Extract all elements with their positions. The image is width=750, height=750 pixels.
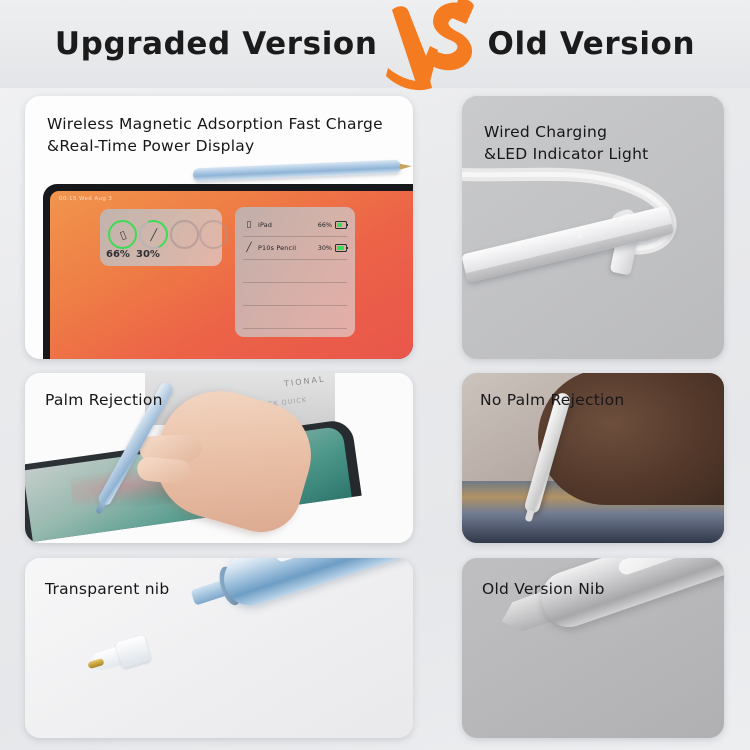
comparison-grid: Wireless Magnetic Adsorption Fast Charge… (0, 88, 750, 750)
battery-list-row-ipad: ▯ iPad 66% (243, 214, 347, 237)
battery-list-row-empty-2 (243, 283, 347, 306)
battery-ring-widget: ▯ ╱ 66% 30% (100, 209, 222, 266)
panel-wired-charging: Wired Charging &LED Indicator Light (462, 96, 724, 359)
battery-list-name-pencil: P10s Pencil (258, 244, 318, 252)
battery-ring-pencil: ╱ (135, 216, 173, 254)
panel-caption-no-palm-rejection: No Palm Rejection (480, 389, 624, 411)
panel-palm-rejection: TIONAL QUICK QUICK Palm Rejection (25, 373, 413, 543)
stylus-illustration (193, 160, 401, 182)
led-indicator (578, 234, 582, 238)
old-version-title: Old Version (488, 26, 696, 62)
tablet-status-bar: 00:15 Wed Aug 3 (59, 196, 112, 202)
header-banner: Upgraded Version Old Version (0, 0, 750, 88)
panel-old-version-nib: Old Version Nib (462, 558, 724, 738)
battery-list-row-empty-3 (243, 306, 347, 329)
blue-stylus-illustration (185, 558, 413, 623)
battery-list-widget: ▯ iPad 66% ╱ P10s Pencil 30% (235, 207, 355, 337)
battery-icon-pencil (335, 244, 347, 252)
battery-list-row-pencil: ╱ P10s Pencil 30% (243, 237, 347, 260)
upgraded-version-title: Upgraded Version (55, 26, 378, 62)
transparent-nib-illustration (82, 634, 152, 680)
gray-stylus-illustration (493, 558, 724, 648)
panel-wireless-charging: Wireless Magnetic Adsorption Fast Charge… (25, 96, 413, 359)
panel-transparent-nib: Transparent nib (25, 558, 413, 738)
panel-caption-transparent-nib: Transparent nib (45, 578, 169, 600)
panel-caption-wireless-charging: Wireless Magnetic Adsorption Fast Charge… (47, 113, 383, 157)
battery-ring-ipad: ▯ (108, 220, 137, 249)
battery-ring-empty-1 (170, 220, 199, 249)
tablet-icon: ▯ (243, 220, 255, 230)
tablet-screen: 00:15 Wed Aug 3 ▯ ╱ 66% 30% ▯ (50, 191, 413, 359)
panel-no-palm-rejection: No Palm Rejection (462, 373, 724, 543)
battery-list-row-empty-1 (243, 260, 347, 283)
battery-list-name-ipad: iPad (258, 221, 318, 229)
battery-ring-percent-pencil: 30% (136, 249, 160, 260)
stylus-icon: ╱ (150, 229, 157, 240)
vs-logo (386, 0, 478, 88)
tablet-illustration: 00:15 Wed Aug 3 ▯ ╱ 66% 30% ▯ (43, 184, 413, 359)
battery-list-percent-ipad: 66% (318, 221, 332, 229)
stylus-icon: ╱ (243, 243, 255, 253)
tablet-corner-shadow (410, 343, 413, 359)
battery-list-percent-pencil: 30% (318, 244, 332, 252)
tablet-icon: ▯ (118, 228, 128, 240)
battery-ring-percent-ipad: 66% (106, 249, 130, 260)
book-title-text: TIONAL (283, 375, 325, 389)
panel-caption-palm-rejection: Palm Rejection (45, 389, 163, 411)
battery-ring-empty-2 (199, 220, 228, 249)
panel-caption-old-version-nib: Old Version Nib (482, 578, 605, 600)
battery-icon-ipad (335, 221, 347, 229)
panel-caption-wired-charging: Wired Charging &LED Indicator Light (484, 121, 648, 165)
